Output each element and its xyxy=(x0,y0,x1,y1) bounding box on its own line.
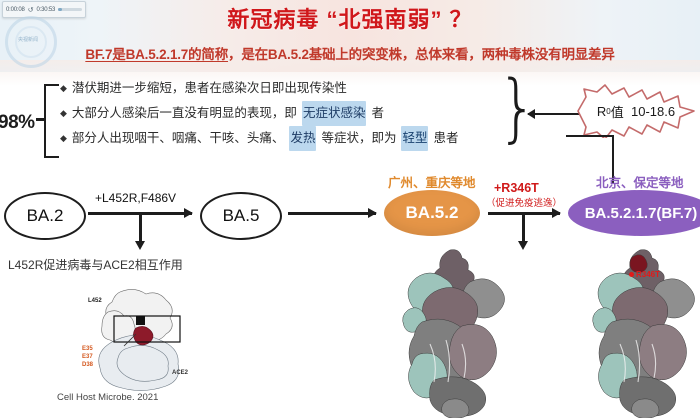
r0-unit: 值 xyxy=(611,102,624,121)
arrow-ba5-to-ba52 xyxy=(288,212,376,215)
bullet-text-mid: 等症状，即为 xyxy=(321,126,396,151)
channel-logo-label: 央视新闻 xyxy=(10,36,46,43)
bullet-text: 潜伏期进一步缩短，患者在感染次日即出现传染性 xyxy=(72,76,347,101)
diamond-bullet-icon: ◆ xyxy=(60,101,67,126)
figure-caption: Cell Host Microbe. 2021 xyxy=(57,392,158,403)
subtitle-underlined: BF.7是BA.5.2.1.7的简称 xyxy=(85,47,228,62)
r346t-marker-icon xyxy=(629,272,634,277)
mutation-label-1: +L452R,F486V xyxy=(95,191,176,205)
bullet-highlight-2: 轻型 xyxy=(401,126,428,151)
label-ace2: ACE2 xyxy=(172,370,188,376)
list-item: ◆ 大部分人感染后一直没有明显的表现，即无症状感染者 xyxy=(60,101,490,126)
r0-connector-horizontal xyxy=(566,135,614,137)
bullet-text-tail: 者 xyxy=(371,101,384,126)
arrow-down-ace2 xyxy=(139,214,142,242)
list-item: ◆ 潜伏期进一步缩短，患者在感染次日即出现传染性 xyxy=(60,76,490,101)
arrow-down-spike xyxy=(522,214,525,242)
region-label-ba52: 广州、重庆等地 xyxy=(388,172,476,191)
slide-canvas: 0:00:08 ↺ 0:30:53 央视新闻 新冠病毒 “北强南弱” ？ BF.… xyxy=(0,0,700,420)
r0-symbol: R xyxy=(597,104,606,119)
label-l452: L452 xyxy=(88,298,102,304)
left-brace xyxy=(44,84,59,158)
bullet-text-tail: 患者 xyxy=(433,126,458,151)
bullet-highlight: 发热 xyxy=(289,126,316,151)
r346t-label: R346T xyxy=(636,270,660,279)
r0-value-text: R0值 10-18.6 xyxy=(572,84,700,138)
node-ba5: BA.5 xyxy=(200,192,282,240)
right-brace: } xyxy=(498,80,538,136)
percent-label: 98% xyxy=(0,112,35,134)
label-e35: E35 xyxy=(82,346,93,352)
spike-protein-ba52 xyxy=(400,248,516,418)
diamond-bullet-icon: ◆ xyxy=(60,126,67,151)
bullet-list: ◆ 潜伏期进一步缩短，患者在感染次日即出现传染性 ◆ 大部分人感染后一直没有明显… xyxy=(60,76,490,151)
page-title: 新冠病毒 “北强南弱” ？ xyxy=(0,2,700,34)
r0-callout: R0值 10-18.6 xyxy=(572,84,700,138)
r0-value: 10-18.6 xyxy=(631,104,675,119)
list-item: ◆ 部分人出现咽干、咽痛、干咳、头痛、发热等症状，即为轻型患者 xyxy=(60,126,490,151)
mutation-label-2-note: （促进免疫逃逸） xyxy=(486,195,562,209)
rbd-ace2-structure-figure: L452 E35 E37 D38 ACE2 xyxy=(62,286,222,391)
bullet-text: 大部分人感染后一直没有明显的表现，即 xyxy=(72,101,297,126)
page-subtitle: BF.7是BA.5.2.1.7的简称，是在BA.5.2基础上的突变株，总体来看，… xyxy=(0,43,700,63)
label-e37: E37 xyxy=(82,354,93,360)
bullet-text: 部分人出现咽干、咽痛、干咳、头痛、 xyxy=(72,126,285,151)
subtitle-rest: ，是在BA.5.2基础上的突变株，总体来看，两种毒株没有明显差异 xyxy=(228,47,615,62)
mutation-label-2: +R346T xyxy=(494,181,539,195)
node-ba2: BA.2 xyxy=(4,192,86,240)
label-d38: D38 xyxy=(82,362,93,368)
node-ba52: BA.5.2 xyxy=(384,190,480,236)
diamond-bullet-icon: ◆ xyxy=(60,76,67,101)
region-label-bf7: 北京、保定等地 xyxy=(596,172,684,191)
node-bf7: BA.5.2.1.7(BF.7) xyxy=(568,190,700,236)
bullet-highlight: 无症状感染 xyxy=(302,101,367,126)
ace2-note: L452R促进病毒与ACE2相互作用 xyxy=(8,256,183,273)
